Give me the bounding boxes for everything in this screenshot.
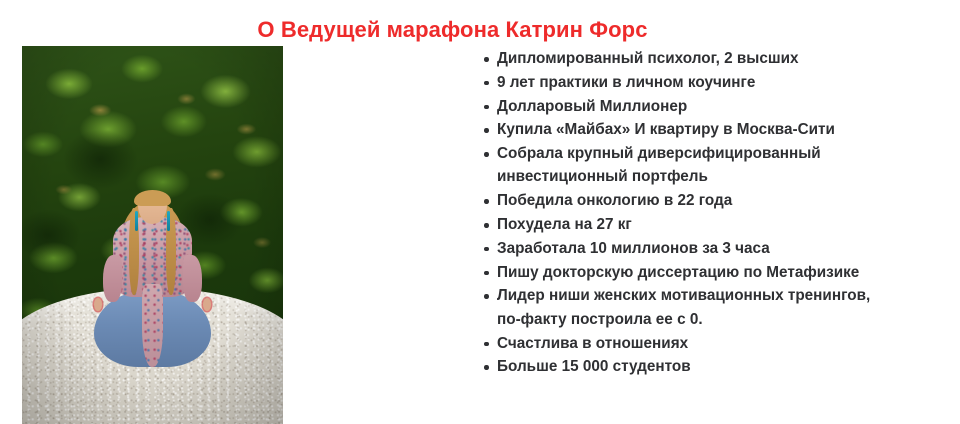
photo-stage: [22, 46, 283, 424]
list-item: Счастлива в отношениях: [483, 332, 933, 355]
page-title: О Ведущей марафона Катрин Форс: [0, 17, 905, 43]
list-item: Похудела на 27 кг: [483, 213, 933, 236]
list-item: Заработала 10 миллионов за 3 часа: [483, 237, 933, 260]
achievements-list: Дипломированный психолог, 2 высших 9 лет…: [483, 47, 933, 379]
list-item: Дипломированный психолог, 2 высших: [483, 47, 933, 70]
list-item: Больше 15 000 студентов: [483, 355, 933, 378]
list-item: 9 лет практики в личном коучинге: [483, 71, 933, 94]
list-item: Победила онкологию в 22 года: [483, 189, 933, 212]
presenter-photo: [22, 46, 283, 424]
photo-vignette: [22, 46, 283, 424]
list-item: Пишу докторскую диссертацию по Метафизик…: [483, 261, 933, 284]
list-item: Долларовый Миллионер: [483, 95, 933, 118]
list-item: Лидер ниши женских мотивационных тренинг…: [483, 284, 892, 331]
list-item: Купила «Майбах» И квартиру в Москва-Сити: [483, 118, 933, 141]
list-item: Собрала крупный диверсифицированный инве…: [483, 142, 892, 189]
